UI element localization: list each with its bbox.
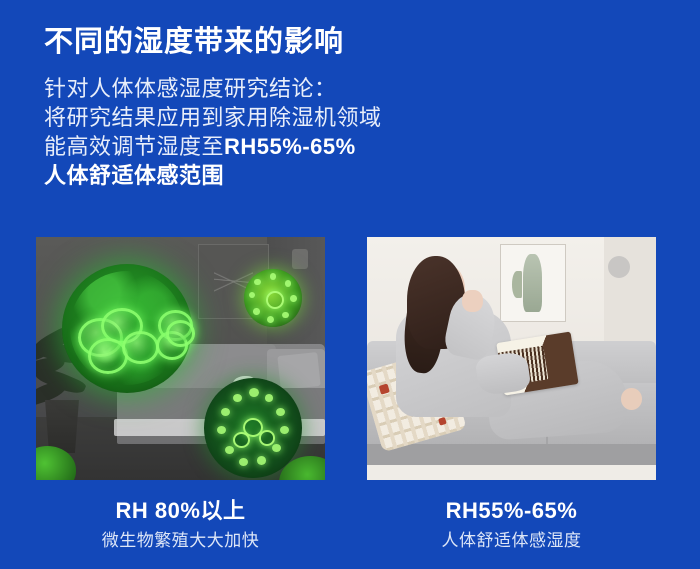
caption-sub-label: 人体舒适体感湿度 [367,528,656,554]
bright-room-scene [367,237,656,480]
body-line-4: 人体舒适体感范围 [44,161,474,190]
woman-foot [621,388,641,410]
caption-main-label: RH 80%以上 [36,497,325,525]
microbe-sphere-virus [204,378,302,478]
body-line-3: 能高效调节湿度至RH55%-65% [44,132,474,161]
microbe-sphere-small [244,269,302,327]
photo-high-humidity [36,237,325,480]
wall-art-frame [500,244,566,321]
body-line-3-highlight: RH55%-65% [224,134,356,159]
body-copy-block: 针对人体体感湿度研究结论： 将研究结果应用到家用除湿机领域 能高效调节湿度至RH… [44,74,474,190]
caption-main-label: RH55%-65% [367,497,656,525]
humidity-infographic-poster: 不同的湿度带来的影响 针对人体体感湿度研究结论： 将研究结果应用到家用除湿机领域… [0,0,700,569]
wall-switch-icon [292,249,308,269]
page-title: 不同的湿度带来的影响 [44,18,344,60]
sofa-cushion [277,352,321,390]
woman-hand [462,290,482,312]
dim-room-scene [36,237,325,480]
caption-high-humidity: RH 80%以上 微生物繁殖大大加快 [36,497,325,554]
sofa-base [367,444,656,466]
photo-comfort-humidity [367,237,656,480]
microbe-sphere-large [62,264,192,393]
caption-sub-label: 微生物繁殖大大加快 [36,528,325,554]
woman-lower-arm [474,350,531,396]
cactus-art-icon [523,254,542,311]
body-line-3-normal: 能高效调节湿度至 [44,134,224,159]
body-line-2: 将研究结果应用到家用除湿机领域 [44,103,474,132]
body-line-1: 针对人体体感湿度研究结论： [44,74,474,103]
caption-comfort-humidity: RH55%-65% 人体舒适体感湿度 [367,497,656,554]
